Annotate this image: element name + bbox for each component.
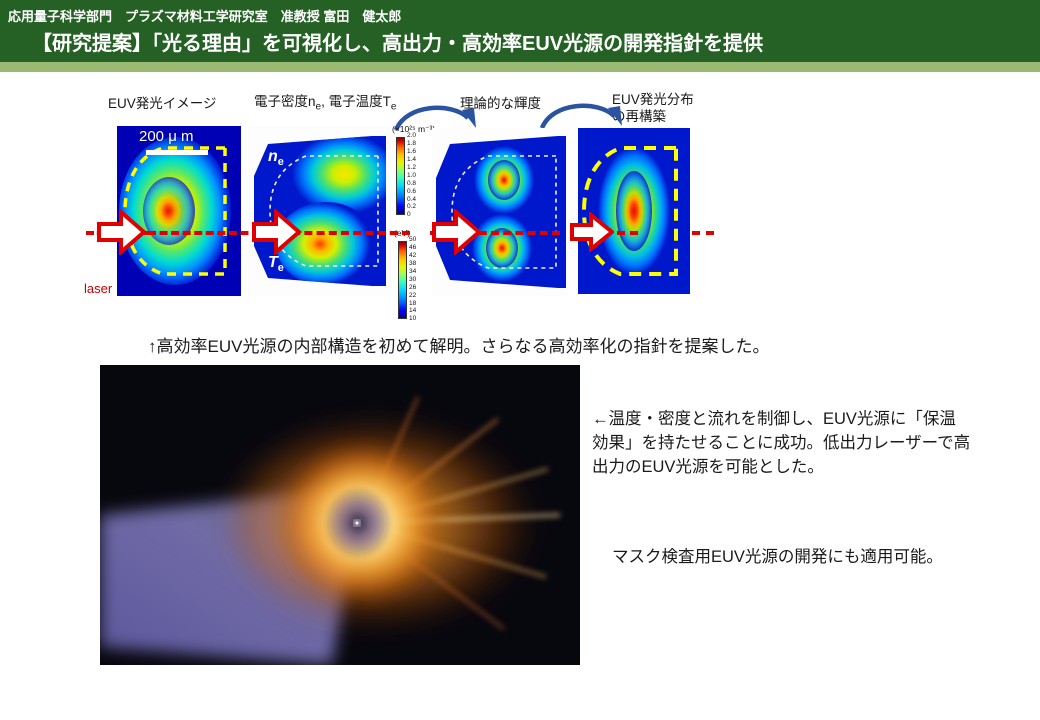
cbt-tick: 50 xyxy=(409,237,431,244)
te-field-label: Te xyxy=(268,254,284,274)
laser-axis-seg-1 xyxy=(148,231,260,235)
cbd-tick: 0 xyxy=(407,212,429,219)
colorbar-temperature-gradient xyxy=(398,241,407,319)
cbt-tick: 14 xyxy=(409,308,431,315)
cbd-tick: 2.0 xyxy=(407,133,429,140)
scalebar-label: 200 μ m xyxy=(139,128,194,145)
laser-plasma-photo xyxy=(100,365,580,665)
cbt-tick: 34 xyxy=(409,269,431,276)
cbd-tick: 0.6 xyxy=(407,189,429,196)
colorbar-density: (×10²⁵ m⁻³) 2.0 1.8 1.6 1.4 1.2 1.0 0.8 … xyxy=(392,124,432,224)
label-panel2: 電子密度ne, 電子温度Te xyxy=(254,94,396,114)
slide-root: 応用量子科学部門 プラズマ材料工学研究室 准教授 富田 健太郎 【研究提案】「光… xyxy=(0,0,1040,720)
cbd-tick: 1.2 xyxy=(407,165,429,172)
colorbar-density-ticks: 2.0 1.8 1.6 1.4 1.2 1.0 0.8 0.6 0.4 0.2 … xyxy=(407,133,429,219)
right-text-block-2: マスク検査用EUV光源の開発にも適用可能。 xyxy=(612,546,1012,570)
ne-field-label: ne xyxy=(268,148,284,168)
ne-symbol: n xyxy=(268,148,278,165)
cbt-tick: 10 xyxy=(409,316,431,323)
laser-label: laser xyxy=(84,281,112,296)
cbt-tick: 42 xyxy=(409,253,431,260)
diagram-area: EUV発光イメージ 電子密度ne, 電子温度Te 理論的な輝度 EUV発光分布 … xyxy=(0,78,1040,328)
cbd-tick: 1.6 xyxy=(407,149,429,156)
curved-arrow-2-icon xyxy=(538,98,628,132)
department-line: 応用量子科学部門 プラズマ材料工学研究室 准教授 富田 健太郎 xyxy=(8,6,401,25)
panel-euv-reconstruction xyxy=(578,128,690,294)
label-panel2-b: , 電子温度T xyxy=(321,94,391,109)
cbt-tick: 22 xyxy=(409,293,431,300)
laser-axis-seg-5 xyxy=(692,231,714,235)
cbd-tick: 1.8 xyxy=(407,141,429,148)
cbd-tick: 0.4 xyxy=(407,197,429,204)
cbd-tick: 1.4 xyxy=(407,157,429,164)
colorbar-temperature-ticks: 50 46 42 38 34 30 26 22 18 14 10 xyxy=(409,237,431,323)
colorbar-density-gradient xyxy=(396,137,405,215)
cbt-tick: 38 xyxy=(409,261,431,268)
label-panel2-a: 電子密度n xyxy=(254,94,316,109)
right-text-block-1: ←温度・密度と流れを制御し、EUV光源に「保温効果」を持たせることに成功。低出力… xyxy=(592,408,972,480)
scalebar-line xyxy=(146,150,208,155)
plasma-photo-render xyxy=(100,365,580,665)
header-accent-stripe xyxy=(0,62,1040,72)
yellow-contour-4 xyxy=(578,128,690,294)
laser-block-arrow-4-icon xyxy=(570,212,614,252)
cbt-tick: 46 xyxy=(409,245,431,252)
cbd-tick: 0.2 xyxy=(407,204,429,211)
ne-subscript: e xyxy=(278,156,284,168)
laser-block-arrow-2-icon xyxy=(252,209,302,255)
te-symbol: T xyxy=(268,254,278,271)
cbt-tick: 18 xyxy=(409,301,431,308)
laser-block-arrow-3-icon xyxy=(432,209,482,255)
te-subscript: e xyxy=(278,262,284,274)
colorbar-temperature: (eV) 50 46 42 38 34 30 26 22 18 14 10 xyxy=(394,228,434,328)
laser-block-arrow-1-icon xyxy=(97,209,147,255)
diagram-caption: ↑高効率EUV光源の内部構造を初めて解明。さらなる高効率化の指針を提案した。 xyxy=(148,332,769,357)
cbd-tick: 1.0 xyxy=(407,173,429,180)
label-panel1: EUV発光イメージ xyxy=(108,96,217,113)
cbt-tick: 30 xyxy=(409,277,431,284)
cbt-tick: 26 xyxy=(409,285,431,292)
slide-title: 【研究提案】「光る理由」を可視化し、高出力・高効率EUV光源の開発指針を提供 xyxy=(32,27,763,56)
cbd-tick: 0.8 xyxy=(407,181,429,188)
